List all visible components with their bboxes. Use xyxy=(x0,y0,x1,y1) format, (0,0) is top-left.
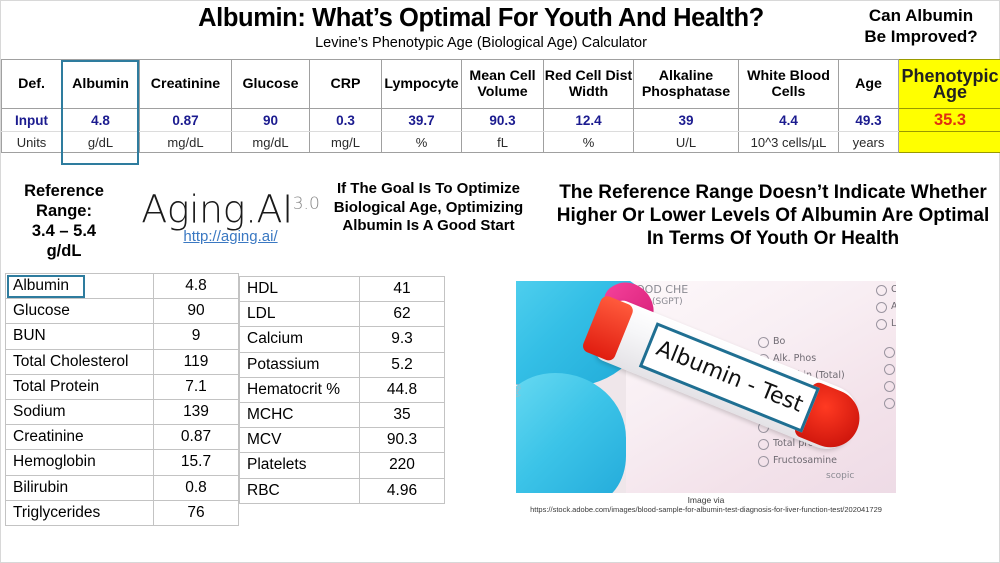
calculator-units-age: years xyxy=(839,132,899,153)
table-row: Bilirubin0.8 xyxy=(6,475,239,500)
reference-range-line3: 3.4 – 5.4 xyxy=(5,221,123,241)
calculator-input-label: Input xyxy=(2,109,62,132)
form-checkbox-calcium: Calcium xyxy=(884,377,896,394)
slide-header: Albumin: What’s Optimal For Youth And He… xyxy=(1,1,1000,59)
slide-root: Albumin: What’s Optimal For Youth And He… xyxy=(0,0,1000,563)
photo-credit-url: https://stock.adobe.com/images/blood-sam… xyxy=(501,505,911,515)
lab-right-value-hematocrit: 44.8 xyxy=(360,377,445,402)
calculator-units-white-blood-cells: 10^3 cells/µL xyxy=(739,132,839,153)
aging-ai-wordmark: Aging.AI3.0 xyxy=(123,184,338,230)
form-sub-text: (SGPT) xyxy=(652,297,683,307)
glove-thumb xyxy=(516,373,626,493)
lab-right-value-potassium: 5.2 xyxy=(360,352,445,377)
calculator-units-row: Unitsg/dLmg/dLmg/dLmg/L%fL%U/L10^3 cells… xyxy=(2,132,1000,153)
page-title: Albumin: What’s Optimal For Youth And He… xyxy=(121,4,841,33)
calculator-units-albumin: g/dL xyxy=(62,132,140,153)
calculator-units-crp: mg/L xyxy=(310,132,382,153)
lab-left-value-creatinine: 0.87 xyxy=(154,425,239,450)
calculator-units-mean-cell-volume: fL xyxy=(462,132,544,153)
lab-right-name-ldl: LDL xyxy=(240,302,360,327)
lab-left-value-total-cholesterol: 119 xyxy=(154,349,239,374)
calculator-input-albumin: 4.8 xyxy=(62,109,140,132)
table-row: Potassium5.2 xyxy=(240,352,445,377)
page-subtitle: Levine’s Phenotypic Age (Biological Age)… xyxy=(121,34,841,52)
table-row: Platelets220 xyxy=(240,453,445,478)
calculator-input-glucose: 90 xyxy=(232,109,310,132)
albumin-test-photo: OOD CHE (SGPT) CholesterolAmylaseLipase … xyxy=(516,281,896,493)
lab-right-name-hdl: HDL xyxy=(240,277,360,302)
form-checklist-right: NoPhosphoCalciumPhenobarbito xyxy=(884,343,896,411)
lab-left-name-total-protein: Total Protein xyxy=(6,374,154,399)
phenotypic-age-header: Phenotypic Age xyxy=(899,60,1000,109)
lab-right-name-mcv: MCV xyxy=(240,428,360,453)
table-row: Calcium9.3 xyxy=(240,327,445,352)
table-row: Sodium139 xyxy=(6,400,239,425)
reference-range-line1: Reference xyxy=(5,181,123,201)
lab-right-name-potassium: Potassium xyxy=(240,352,360,377)
lab-left-value-albumin: 4.8 xyxy=(154,274,239,299)
photo-credit-line1: Image via xyxy=(501,495,911,505)
table-row: Hemoglobin15.7 xyxy=(6,450,239,475)
calculator-header-albumin: Albumin xyxy=(62,60,140,109)
lab-left-value-sodium: 139 xyxy=(154,400,239,425)
calculator-header-row: Def.AlbuminCreatinineGlucoseCRPLympocyte… xyxy=(2,60,1000,109)
form-checkbox-phospho: Phospho xyxy=(884,360,896,377)
photo-credit-caption: Image via https://stock.adobe.com/images… xyxy=(501,495,911,515)
calculator-units-red-cell-dist-width: % xyxy=(544,132,634,153)
table-row: Total Protein7.1 xyxy=(6,374,239,399)
lab-left-name-albumin: Albumin xyxy=(6,274,154,299)
form-bottom-right-text: scopic xyxy=(826,471,854,481)
lab-right-name-mchc: MCHC xyxy=(240,403,360,428)
table-row: Total Cholesterol119 xyxy=(6,349,239,374)
secondary-title-line2: Be Improved? xyxy=(846,26,996,47)
form-checkbox-no: No xyxy=(884,343,896,360)
calculator-units-label: Units xyxy=(2,132,62,153)
calculator-header-age: Age xyxy=(839,60,899,109)
table-row: RBC4.96 xyxy=(240,478,445,503)
calculator-header-crp: CRP xyxy=(310,60,382,109)
lab-right-name-rbc: RBC xyxy=(240,478,360,503)
calculator-corner-label: Def. xyxy=(2,60,62,109)
lab-right-value-ldl: 62 xyxy=(360,302,445,327)
calculator-input-row: Input4.80.87900.339.790.312.4394.449.335… xyxy=(2,109,1000,132)
calculator-input-white-blood-cells: 4.4 xyxy=(739,109,839,132)
phenotypic-age-value: 35.3 xyxy=(899,109,1000,132)
phenotypic-age-calculator-table: Def.AlbuminCreatinineGlucoseCRPLympocyte… xyxy=(1,59,1000,153)
form-checkbox-cholesterol: Cholesterol xyxy=(876,281,896,298)
lab-right-value-mcv: 90.3 xyxy=(360,428,445,453)
calculator-header-glucose: Glucose xyxy=(232,60,310,109)
lab-left-name-sodium: Sodium xyxy=(6,400,154,425)
calculator-units-alkaline-phosphatase: U/L xyxy=(634,132,739,153)
reference-range-line4: g/dL xyxy=(5,241,123,261)
lab-right-value-hdl: 41 xyxy=(360,277,445,302)
calculator-header-red-cell-dist-width: Red Cell Dist Width xyxy=(544,60,634,109)
form-checklist-top: CholesterolAmylaseLipase xyxy=(876,281,896,332)
lab-right-name-hematocrit: Hematocrit % xyxy=(240,377,360,402)
lab-results-table-left: Albumin4.8Glucose90BUN9Total Cholesterol… xyxy=(5,273,239,526)
lab-left-name-creatinine: Creatinine xyxy=(6,425,154,450)
lab-results-table-right: HDL41LDL62Calcium9.3Potassium5.2Hematocr… xyxy=(239,276,445,504)
goal-note: If The Goal Is To Optimize Biological Ag… xyxy=(316,180,541,236)
aging-ai-word: Aging.AI xyxy=(141,188,293,232)
calculator-input-creatinine: 0.87 xyxy=(140,109,232,132)
reference-range-note: Reference Range: 3.4 – 5.4 g/dL xyxy=(5,181,123,261)
calculator-input-crp: 0.3 xyxy=(310,109,382,132)
lab-right-name-calcium: Calcium xyxy=(240,327,360,352)
calculator-header-lympocyte: Lympocyte xyxy=(382,60,462,109)
calculator-input-mean-cell-volume: 90.3 xyxy=(462,109,544,132)
table-row: Triglycerides76 xyxy=(6,500,239,525)
lab-left-name-total-cholesterol: Total Cholesterol xyxy=(6,349,154,374)
lab-right-value-rbc: 4.96 xyxy=(360,478,445,503)
table-row: Hematocrit %44.8 xyxy=(240,377,445,402)
table-row: HDL41 xyxy=(240,277,445,302)
lab-left-value-triglycerides: 76 xyxy=(154,500,239,525)
phenotypic-age-units xyxy=(899,132,1000,153)
calculator-input-alkaline-phosphatase: 39 xyxy=(634,109,739,132)
reference-range-line2: Range: xyxy=(5,201,123,221)
table-row: Glucose90 xyxy=(6,299,239,324)
lab-left-name-bun: BUN xyxy=(6,324,154,349)
lab-left-name-triglycerides: Triglycerides xyxy=(6,500,154,525)
form-checkbox-bo: Bo xyxy=(758,333,845,350)
form-checkbox-amylase: Amylase xyxy=(876,298,896,315)
lab-left-value-total-protein: 7.1 xyxy=(154,374,239,399)
lab-left-name-hemoglobin: Hemoglobin xyxy=(6,450,154,475)
calculator-header-creatinine: Creatinine xyxy=(140,60,232,109)
table-row: Creatinine0.87 xyxy=(6,425,239,450)
calculator-input-red-cell-dist-width: 12.4 xyxy=(544,109,634,132)
lab-left-value-bilirubin: 0.8 xyxy=(154,475,239,500)
lab-left-value-hemoglobin: 15.7 xyxy=(154,450,239,475)
lab-left-value-glucose: 90 xyxy=(154,299,239,324)
reference-range-caveat-note: The Reference Range Doesn’t Indicate Whe… xyxy=(549,181,997,250)
lab-right-value-mchc: 35 xyxy=(360,403,445,428)
lab-right-value-platelets: 220 xyxy=(360,453,445,478)
calculator-input-age: 49.3 xyxy=(839,109,899,132)
aging-ai-logo: Aging.AI3.0 http://aging.ai/ xyxy=(123,184,338,245)
table-row: BUN9 xyxy=(6,324,239,349)
table-row: MCV90.3 xyxy=(240,428,445,453)
table-row: LDL62 xyxy=(240,302,445,327)
form-checkbox-lipase: Lipase xyxy=(876,315,896,332)
calculator-units-glucose: mg/dL xyxy=(232,132,310,153)
calculator-units-creatinine: mg/dL xyxy=(140,132,232,153)
table-row: MCHC35 xyxy=(240,403,445,428)
lab-right-value-calcium: 9.3 xyxy=(360,327,445,352)
form-side-text: (Ag) xyxy=(516,384,521,397)
lab-left-name-glucose: Glucose xyxy=(6,299,154,324)
calculator-input-lympocyte: 39.7 xyxy=(382,109,462,132)
table-row: Albumin4.8 xyxy=(6,274,239,299)
lab-left-value-bun: 9 xyxy=(154,324,239,349)
calculator-header-mean-cell-volume: Mean Cell Volume xyxy=(462,60,544,109)
secondary-title: Can Albumin Be Improved? xyxy=(846,5,996,47)
calculator-header-alkaline-phosphatase: Alkaline Phosphatase xyxy=(634,60,739,109)
lab-right-name-platelets: Platelets xyxy=(240,453,360,478)
lab-left-name-bilirubin: Bilirubin xyxy=(6,475,154,500)
calculator-header-white-blood-cells: White Blood Cells xyxy=(739,60,839,109)
secondary-title-line1: Can Albumin xyxy=(846,5,996,26)
calculator-units-lympocyte: % xyxy=(382,132,462,153)
